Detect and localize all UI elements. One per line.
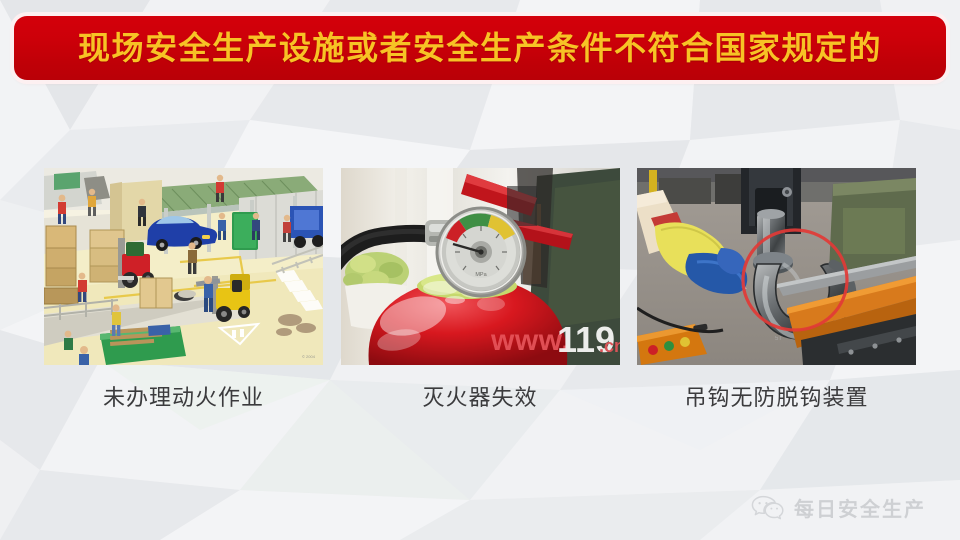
title-banner: 现场安全生产设施或者安全生产条件不符合国家规定的 bbox=[14, 16, 946, 80]
photo-fire-extinguisher: MPa www. 119 .cn bbox=[341, 168, 620, 365]
caption-photo-3: 吊钩无防脱钩装置 bbox=[637, 385, 916, 411]
svg-text:.cn: .cn bbox=[599, 336, 620, 356]
photo-warehouse-illustration: © 2004 bbox=[44, 168, 323, 365]
wechat-icon bbox=[751, 495, 785, 521]
photo-row: © 2004 bbox=[44, 168, 916, 365]
slide-root: 现场安全生产设施或者安全生产条件不符合国家规定的 bbox=[0, 0, 960, 540]
caption-photo-1: 未办理动火作业 bbox=[44, 385, 323, 411]
page-title: 现场安全生产设施或者安全生产条件不符合国家规定的 bbox=[78, 32, 882, 64]
watermark: 每日安全生产 bbox=[751, 493, 926, 522]
watermark-label: 每日安全生产 bbox=[794, 493, 926, 522]
photo-crane-hook: XR 5T bbox=[637, 168, 916, 365]
caption-photo-2: 灭火器失效 bbox=[341, 385, 620, 411]
svg-text:5T: 5T bbox=[775, 336, 782, 342]
svg-text:© 2004: © 2004 bbox=[302, 354, 316, 359]
caption-row: 未办理动火作业 灭火器失效 吊钩无防脱钩装置 bbox=[44, 385, 916, 411]
svg-text:MPa: MPa bbox=[475, 272, 487, 278]
